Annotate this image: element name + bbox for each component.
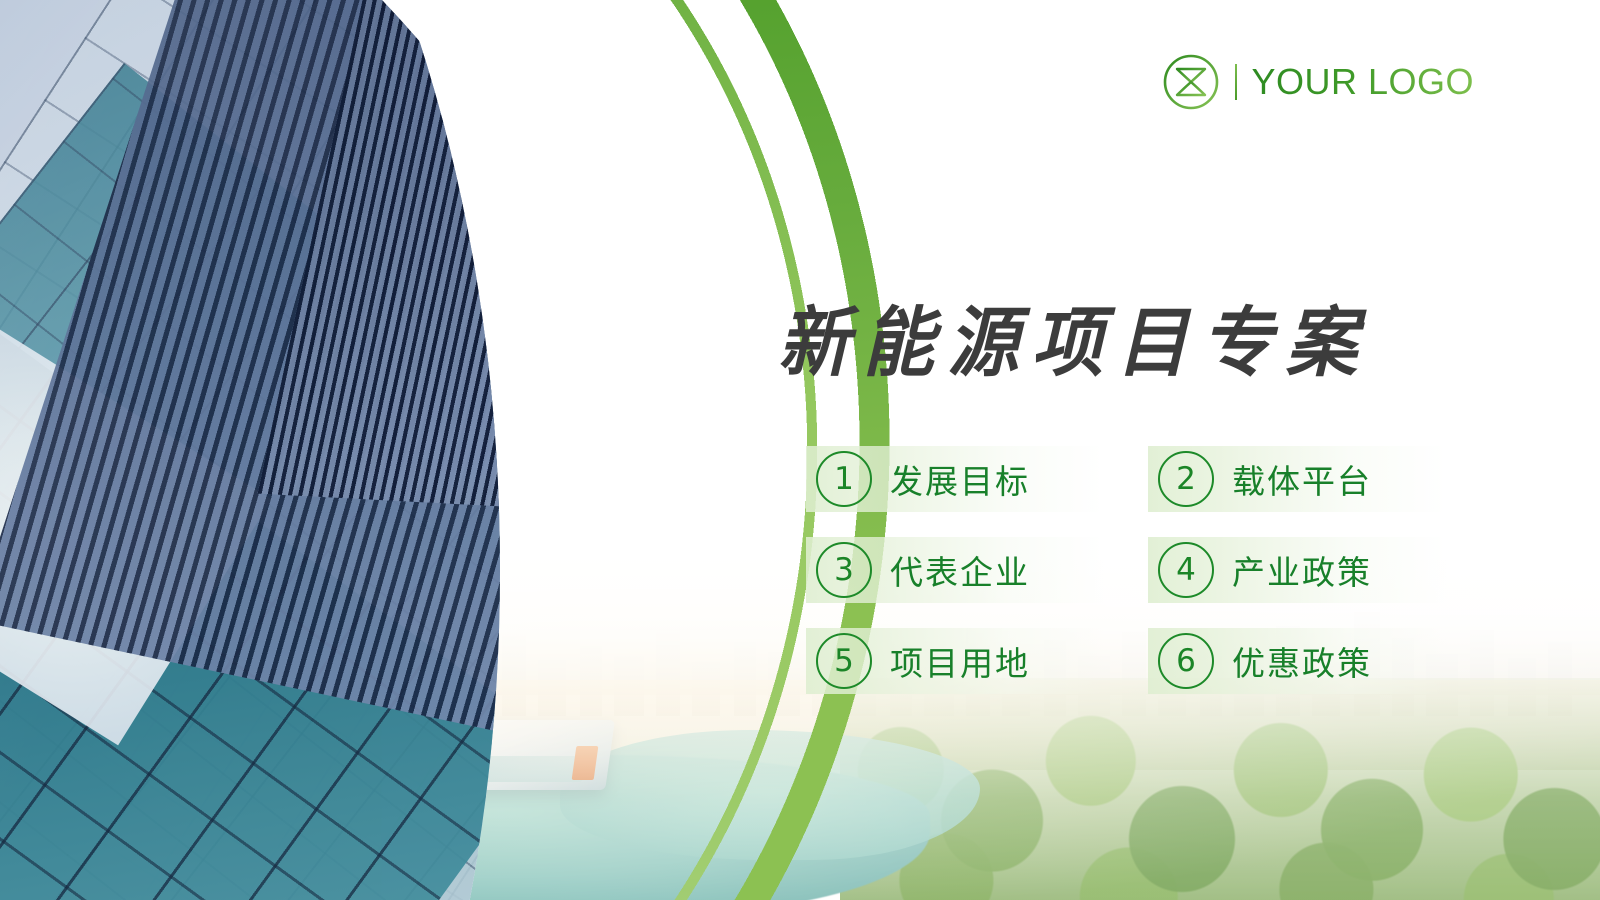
- presentation-slide: YOUR LOGO 新能源项目专案 1 发展目标 2 载体平台 3 代表企业 4…: [0, 0, 1600, 900]
- agenda-item-5[interactable]: 5 项目用地: [806, 628, 1104, 694]
- agenda-label-6: 优惠政策: [1232, 637, 1372, 685]
- agenda-item-6[interactable]: 6 优惠政策: [1148, 628, 1446, 694]
- agenda-label-1: 发展目标: [890, 455, 1030, 503]
- agenda-item-3[interactable]: 3 代表企业: [806, 537, 1104, 603]
- agenda-row: 3 代表企业 4 产业政策: [806, 537, 1446, 603]
- logo-lockup[interactable]: YOUR LOGO: [1161, 52, 1474, 112]
- agenda-row: 5 项目用地 6 优惠政策: [806, 628, 1446, 694]
- agenda-item-2[interactable]: 2 载体平台: [1148, 446, 1446, 512]
- agenda-label-4: 产业政策: [1232, 546, 1372, 594]
- agenda-label-3: 代表企业: [890, 546, 1030, 594]
- agenda-item-4[interactable]: 4 产业政策: [1148, 537, 1446, 603]
- agenda-row: 1 发展目标 2 载体平台: [806, 446, 1446, 512]
- circular-monogram-logo-icon: [1161, 52, 1221, 112]
- agenda-number-2: 2: [1158, 451, 1214, 507]
- green-arc-thick: [0, 0, 946, 900]
- agenda-number-3: 3: [816, 542, 872, 598]
- agenda-label-5: 项目用地: [890, 637, 1030, 685]
- agenda-number-6: 6: [1158, 633, 1214, 689]
- agenda-number-4: 4: [1158, 542, 1214, 598]
- agenda-item-1[interactable]: 1 发展目标: [806, 446, 1104, 512]
- page-title: 新能源项目专案: [778, 281, 1370, 391]
- agenda-label-2: 载体平台: [1232, 455, 1372, 503]
- agenda-number-1: 1: [816, 451, 872, 507]
- logo-text: YOUR LOGO: [1251, 61, 1474, 103]
- agenda-number-5: 5: [816, 633, 872, 689]
- agenda-menu: 1 发展目标 2 载体平台 3 代表企业 4 产业政策 5 项目用地: [806, 446, 1446, 694]
- logo-divider: [1235, 64, 1237, 100]
